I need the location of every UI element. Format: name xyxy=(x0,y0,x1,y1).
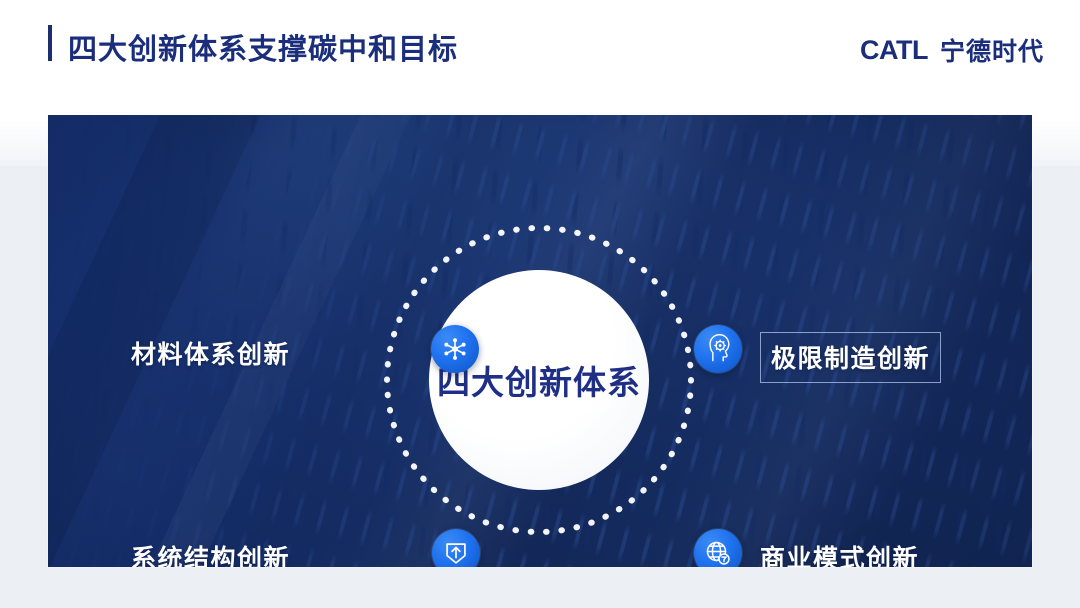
page-title: 四大创新体系支撑碳中和目标 xyxy=(68,26,458,68)
core-label: 四大创新体系 xyxy=(429,270,649,490)
globe-icon-glyph xyxy=(703,538,733,567)
head-gear-icon[interactable] xyxy=(694,325,742,373)
node-label-material: 材料体系创新 xyxy=(131,335,290,371)
catl-logo: CATL 宁德时代 xyxy=(860,32,1044,68)
node-label-structure: 系统结构创新 xyxy=(131,539,290,567)
molecule-icon-glyph xyxy=(440,334,470,364)
molecule-icon[interactable] xyxy=(431,325,479,373)
slide-header: 四大创新体系支撑碳中和目标 CATL 宁德时代 xyxy=(0,0,1080,100)
slide-canvas: 四大创新体系支撑碳中和目标 CATL 宁德时代 四大创新体系 xyxy=(0,0,1080,608)
shield-arrow-up-icon-glyph xyxy=(441,538,471,567)
head-gear-icon-glyph xyxy=(703,334,733,364)
globe-icon[interactable] xyxy=(694,529,742,567)
node-label-business: 商业模式创新 xyxy=(760,539,919,567)
diagram-panel: 四大创新体系 材料体系 xyxy=(48,115,1032,567)
node-label-manufacturing: 极限制造创新 xyxy=(760,332,941,383)
four-systems-diagram: 四大创新体系 材料体系 xyxy=(48,115,1032,567)
brand-latin-text: CATL xyxy=(860,35,928,66)
title-accent-bar xyxy=(48,25,52,61)
brand-chinese-text: 宁德时代 xyxy=(940,32,1044,68)
